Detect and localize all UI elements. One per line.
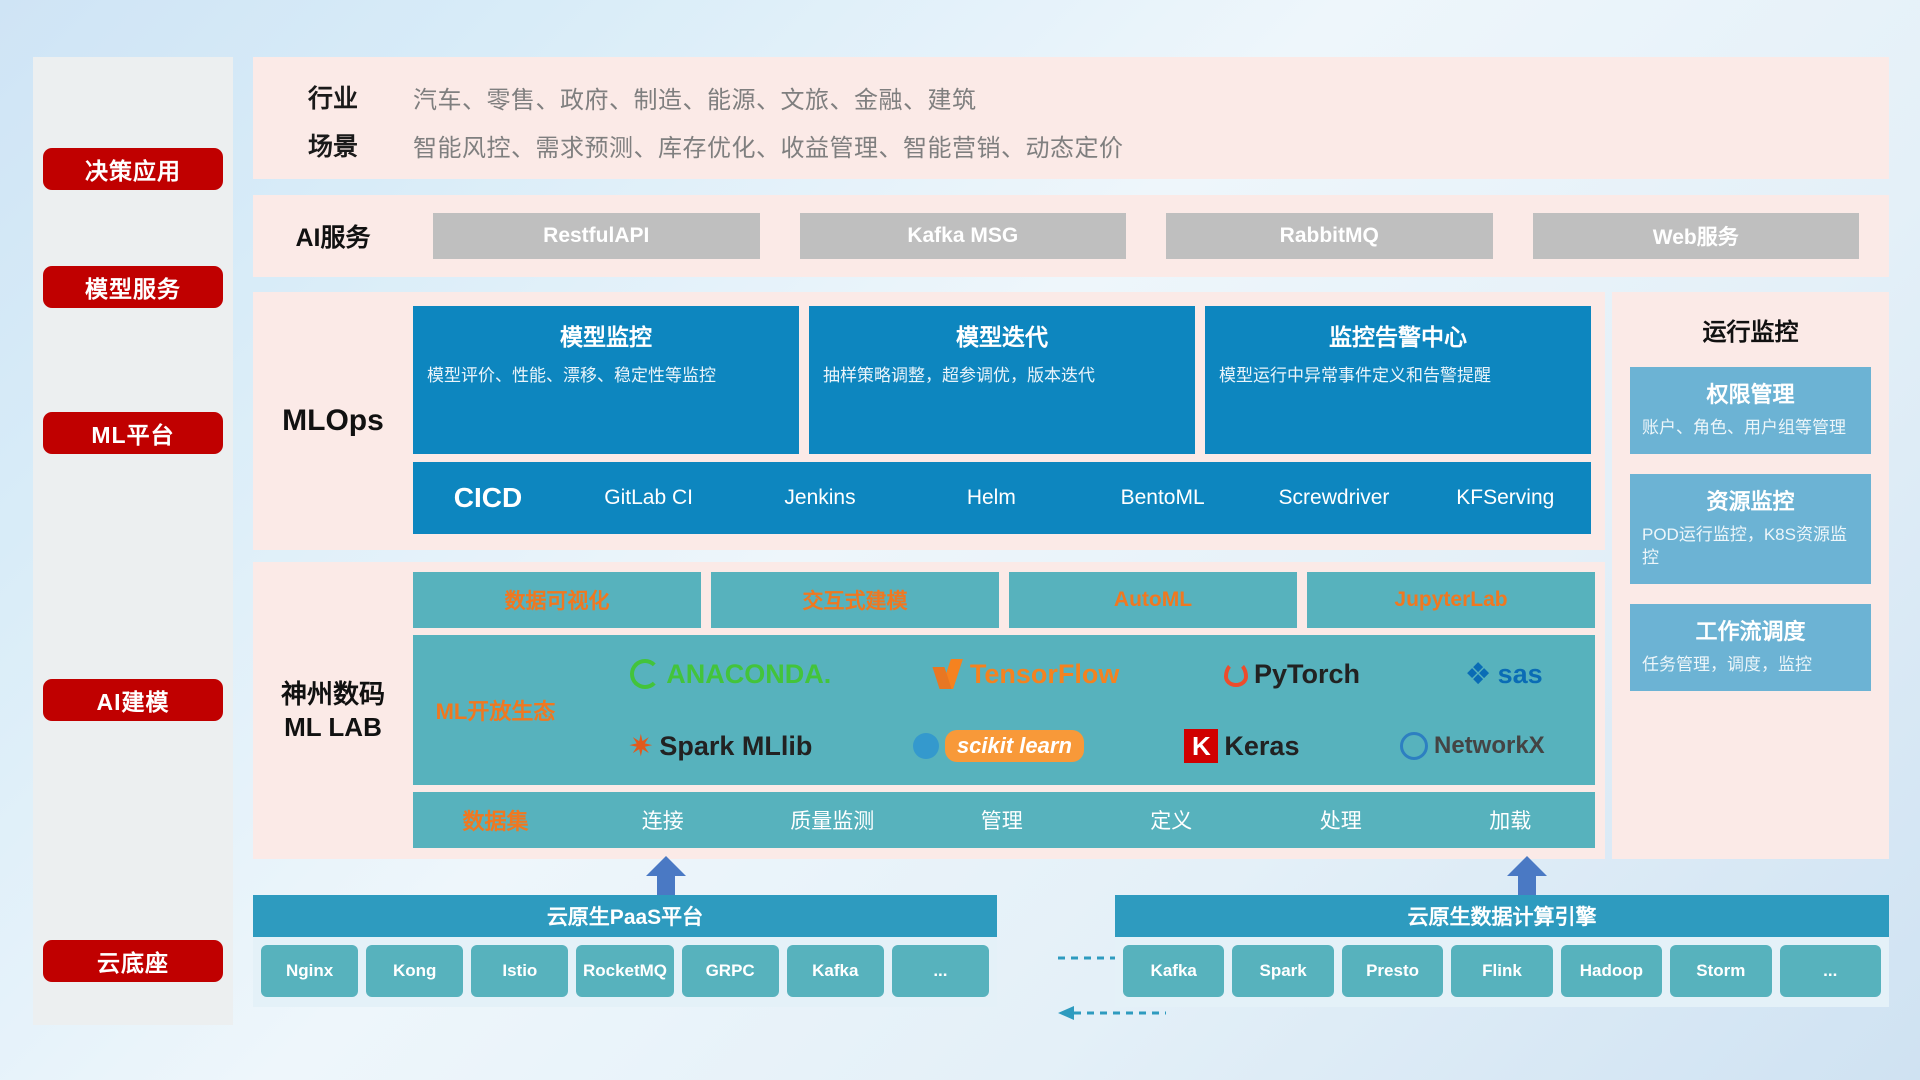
cloud-chip-kong[interactable]: Kong: [366, 945, 463, 997]
ecosystem-logo-grid: ANACONDA. TensorFlow PyTorch: [578, 639, 1595, 781]
mlops-card-list: 模型监控 模型评价、性能、漂移、稳定性等监控 模型迭代 抽样策略调整，超参调优，…: [413, 306, 1591, 454]
networkx-graph-icon: [1400, 732, 1428, 760]
keras-logo: K Keras: [1184, 729, 1299, 763]
cicd-item-kfserving[interactable]: KFServing: [1420, 487, 1591, 509]
industry-value: 汽车、零售、政府、制造、能源、文旅、金融、建筑: [413, 80, 977, 115]
rail-badge-model-service[interactable]: 模型服务: [43, 266, 223, 308]
cloud-engine-title: 云原生数据计算引擎: [1115, 895, 1889, 937]
industry-row: 行业 汽车、零售、政府、制造、能源、文旅、金融、建筑: [253, 73, 1889, 121]
cloud-paas-title: 云原生PaaS平台: [253, 895, 997, 937]
runtime-monitor-panel: 运行监控 权限管理 账户、角色、用户组等管理 资源监控 POD运行监控，K8S资…: [1612, 292, 1889, 859]
ml-lab-label-line2: ML LAB: [284, 711, 382, 744]
rail-badge-label: 模型服务: [85, 270, 181, 304]
cloud-chip-nginx[interactable]: Nginx: [261, 945, 358, 997]
industry-key: 行业: [253, 79, 413, 115]
mlops-body: 模型监控 模型评价、性能、漂移、稳定性等监控 模型迭代 抽样策略调整，超参调优，…: [413, 292, 1605, 550]
pytorch-logo: PyTorch: [1224, 659, 1360, 690]
engine-chip-storm[interactable]: Storm: [1670, 945, 1771, 997]
engine-chip-flink[interactable]: Flink: [1451, 945, 1552, 997]
cloud-engine-chip-list: Kafka Spark Presto Flink Hadoop Storm ..…: [1115, 937, 1889, 1007]
sas-swirl-icon: ❖: [1465, 657, 1492, 692]
engine-chip-hadoop[interactable]: Hadoop: [1561, 945, 1662, 997]
card-title: 工作流调度: [1642, 614, 1859, 646]
ai-service-band: AI服务 RestfulAPI Kafka MSG RabbitMQ Web服务: [253, 195, 1889, 277]
keras-logo-text: Keras: [1224, 731, 1299, 762]
scene-row: 场景 智能风控、需求预测、库存优化、收益管理、智能营销、动态定价: [253, 121, 1889, 169]
cloud-chip-more[interactable]: ...: [892, 945, 989, 997]
cloud-paas-chip-list: Nginx Kong Istio RocketMQ GRPC Kafka ...: [253, 937, 997, 1007]
cloud-chip-rocketmq[interactable]: RocketMQ: [576, 945, 673, 997]
engine-chip-spark[interactable]: Spark: [1232, 945, 1333, 997]
sas-logo: ❖ sas: [1465, 657, 1543, 692]
rail-badge-ai-modeling[interactable]: AI建模: [43, 679, 223, 721]
lab-tool-jupyterlab[interactable]: JupyterLab: [1307, 572, 1595, 628]
tensorflow-logo-text: TensorFlow: [970, 659, 1120, 690]
rail-badge-ml-platform[interactable]: ML平台: [43, 412, 223, 454]
rail-badge-cloud-base[interactable]: 云底座: [43, 940, 223, 982]
spark-star-icon: ✷: [628, 729, 653, 764]
pytorch-flame-icon: [1224, 661, 1248, 687]
ml-lab-band: 神州数码 ML LAB 数据可视化 交互式建模 AutoML JupyterLa…: [253, 562, 1605, 859]
cicd-item-helm[interactable]: Helm: [906, 487, 1077, 509]
networkx-logo-text: NetworkX: [1434, 732, 1545, 760]
cloud-paas-column: 云原生PaaS平台 Nginx Kong Istio RocketMQ GRPC…: [253, 895, 997, 1007]
mlops-card-alert-center[interactable]: 监控告警中心 模型运行中异常事件定义和告警提醒: [1205, 306, 1591, 454]
engine-chip-kafka[interactable]: Kafka: [1123, 945, 1224, 997]
anaconda-logo: ANACONDA.: [630, 659, 831, 690]
service-chip-web[interactable]: Web服务: [1533, 213, 1860, 259]
dataset-bar: 数据集 连接 质量监测 管理 定义 处理 加载: [413, 792, 1595, 848]
cicd-item-jenkins[interactable]: Jenkins: [734, 487, 905, 509]
mlops-card-model-iteration[interactable]: 模型迭代 抽样策略调整，超参调优，版本迭代: [809, 306, 1195, 454]
mlops-label: MLOps: [253, 292, 413, 550]
monitor-card-workflow[interactable]: 工作流调度 任务管理，调度，监控: [1630, 604, 1871, 691]
rail-badge-decision[interactable]: 决策应用: [43, 148, 223, 190]
card-title: 资源监控: [1642, 484, 1859, 516]
anaconda-logo-text: ANACONDA.: [666, 659, 831, 690]
card-desc: 账户、角色、用户组等管理: [1642, 417, 1859, 440]
scikit-learn-logo: scikit learn: [913, 730, 1084, 762]
dataset-item-quality[interactable]: 质量监测: [748, 805, 918, 835]
cicd-item-gitlab-ci[interactable]: GitLab CI: [563, 487, 734, 509]
runtime-monitor-title: 运行监控: [1630, 312, 1871, 347]
ml-lab-body: 数据可视化 交互式建模 AutoML JupyterLab ML开放生态 ANA…: [413, 562, 1605, 859]
rail-badge-label: AI建模: [97, 683, 170, 717]
card-title: 模型监控: [427, 318, 785, 352]
lab-tool-interactive-modeling[interactable]: 交互式建模: [711, 572, 999, 628]
keras-mark-icon: K: [1184, 729, 1218, 763]
dataset-item-connect[interactable]: 连接: [578, 805, 748, 835]
rail-badge-label: 决策应用: [85, 152, 181, 186]
tensorflow-logo: TensorFlow: [936, 659, 1120, 690]
cloud-chip-grpc[interactable]: GRPC: [682, 945, 779, 997]
sas-logo-text: sas: [1498, 659, 1543, 690]
card-desc: 模型运行中异常事件定义和告警提醒: [1219, 364, 1577, 389]
lab-tool-automl[interactable]: AutoML: [1009, 572, 1297, 628]
scene-value: 智能风控、需求预测、库存优化、收益管理、智能营销、动态定价: [413, 128, 1124, 163]
cloud-engine-column: 云原生数据计算引擎 Kafka Spark Presto Flink Hadoo…: [1115, 895, 1889, 1007]
scikit-learn-logo-text: scikit learn: [945, 730, 1084, 762]
spark-mllib-logo: ✷ Spark MLlib: [628, 729, 812, 764]
service-chip-rabbitmq[interactable]: RabbitMQ: [1166, 213, 1493, 259]
service-chip-restfulapi[interactable]: RestfulAPI: [433, 213, 760, 259]
cloud-chip-kafka[interactable]: Kafka: [787, 945, 884, 997]
logo-row-2: ✷ Spark MLlib scikit learn K Keras Netwo…: [578, 711, 1595, 781]
cloud-chip-istio[interactable]: Istio: [471, 945, 568, 997]
ai-service-chip-list: RestfulAPI Kafka MSG RabbitMQ Web服务: [413, 213, 1889, 259]
cicd-item-screwdriver[interactable]: Screwdriver: [1248, 487, 1419, 509]
anaconda-ring-icon: [630, 659, 660, 689]
ml-lab-label-line1: 神州数码: [281, 678, 385, 711]
card-desc: POD运行监控，K8S资源监控: [1642, 524, 1859, 570]
ml-lab-label: 神州数码 ML LAB: [253, 562, 413, 859]
cicd-title: CICD: [413, 482, 563, 514]
cicd-bar: CICD GitLab CI Jenkins Helm BentoML Scre…: [413, 462, 1591, 534]
monitor-card-permission[interactable]: 权限管理 账户、角色、用户组等管理: [1630, 367, 1871, 454]
card-desc: 抽样策略调整，超参调优，版本迭代: [823, 364, 1181, 389]
card-title: 权限管理: [1642, 377, 1859, 409]
ai-service-label: AI服务: [253, 218, 413, 254]
dataset-item-load[interactable]: 加载: [1426, 805, 1596, 835]
dataset-label: 数据集: [413, 804, 578, 836]
networkx-logo: NetworkX: [1400, 732, 1545, 760]
logo-row-1: ANACONDA. TensorFlow PyTorch: [578, 639, 1595, 709]
lab-tool-data-visualization[interactable]: 数据可视化: [413, 572, 701, 628]
ml-open-ecosystem-label: ML开放生态: [413, 694, 578, 726]
pytorch-logo-text: PyTorch: [1254, 659, 1360, 690]
mlops-band: MLOps 模型监控 模型评价、性能、漂移、稳定性等监控 模型迭代 抽样策略调整…: [253, 292, 1605, 550]
service-chip-kafka-msg[interactable]: Kafka MSG: [800, 213, 1127, 259]
tensorflow-mark-icon: [936, 659, 964, 689]
rail-badge-label: ML平台: [91, 416, 174, 450]
monitor-card-resource[interactable]: 资源监控 POD运行监控，K8S资源监控: [1630, 474, 1871, 584]
card-desc: 任务管理，调度，监控: [1642, 654, 1859, 677]
engine-chip-more[interactable]: ...: [1780, 945, 1881, 997]
card-title: 监控告警中心: [1219, 318, 1577, 352]
cloud-base-band: 云原生PaaS平台 Nginx Kong Istio RocketMQ GRPC…: [253, 895, 1889, 1025]
card-desc: 模型评价、性能、漂移、稳定性等监控: [427, 364, 785, 389]
scene-key: 场景: [253, 127, 413, 163]
scikit-circle-icon: [913, 733, 939, 759]
cicd-item-bentoml[interactable]: BentoML: [1077, 487, 1248, 509]
rail-badge-label: 云底座: [97, 944, 169, 978]
ml-open-ecosystem: ML开放生态 ANACONDA. TensorFlow: [413, 635, 1595, 785]
ml-lab-tool-list: 数据可视化 交互式建模 AutoML JupyterLab: [413, 572, 1595, 628]
dataset-item-manage[interactable]: 管理: [917, 805, 1087, 835]
spark-mllib-logo-text: Spark MLlib: [659, 731, 812, 762]
card-title: 模型迭代: [823, 318, 1181, 352]
mlops-card-model-monitoring[interactable]: 模型监控 模型评价、性能、漂移、稳定性等监控: [413, 306, 799, 454]
industry-scene-band: 行业 汽车、零售、政府、制造、能源、文旅、金融、建筑 场景 智能风控、需求预测、…: [253, 57, 1889, 179]
stack-layer-rail: [33, 57, 233, 1025]
dataset-item-define[interactable]: 定义: [1087, 805, 1257, 835]
engine-chip-presto[interactable]: Presto: [1342, 945, 1443, 997]
dataset-item-process[interactable]: 处理: [1256, 805, 1426, 835]
